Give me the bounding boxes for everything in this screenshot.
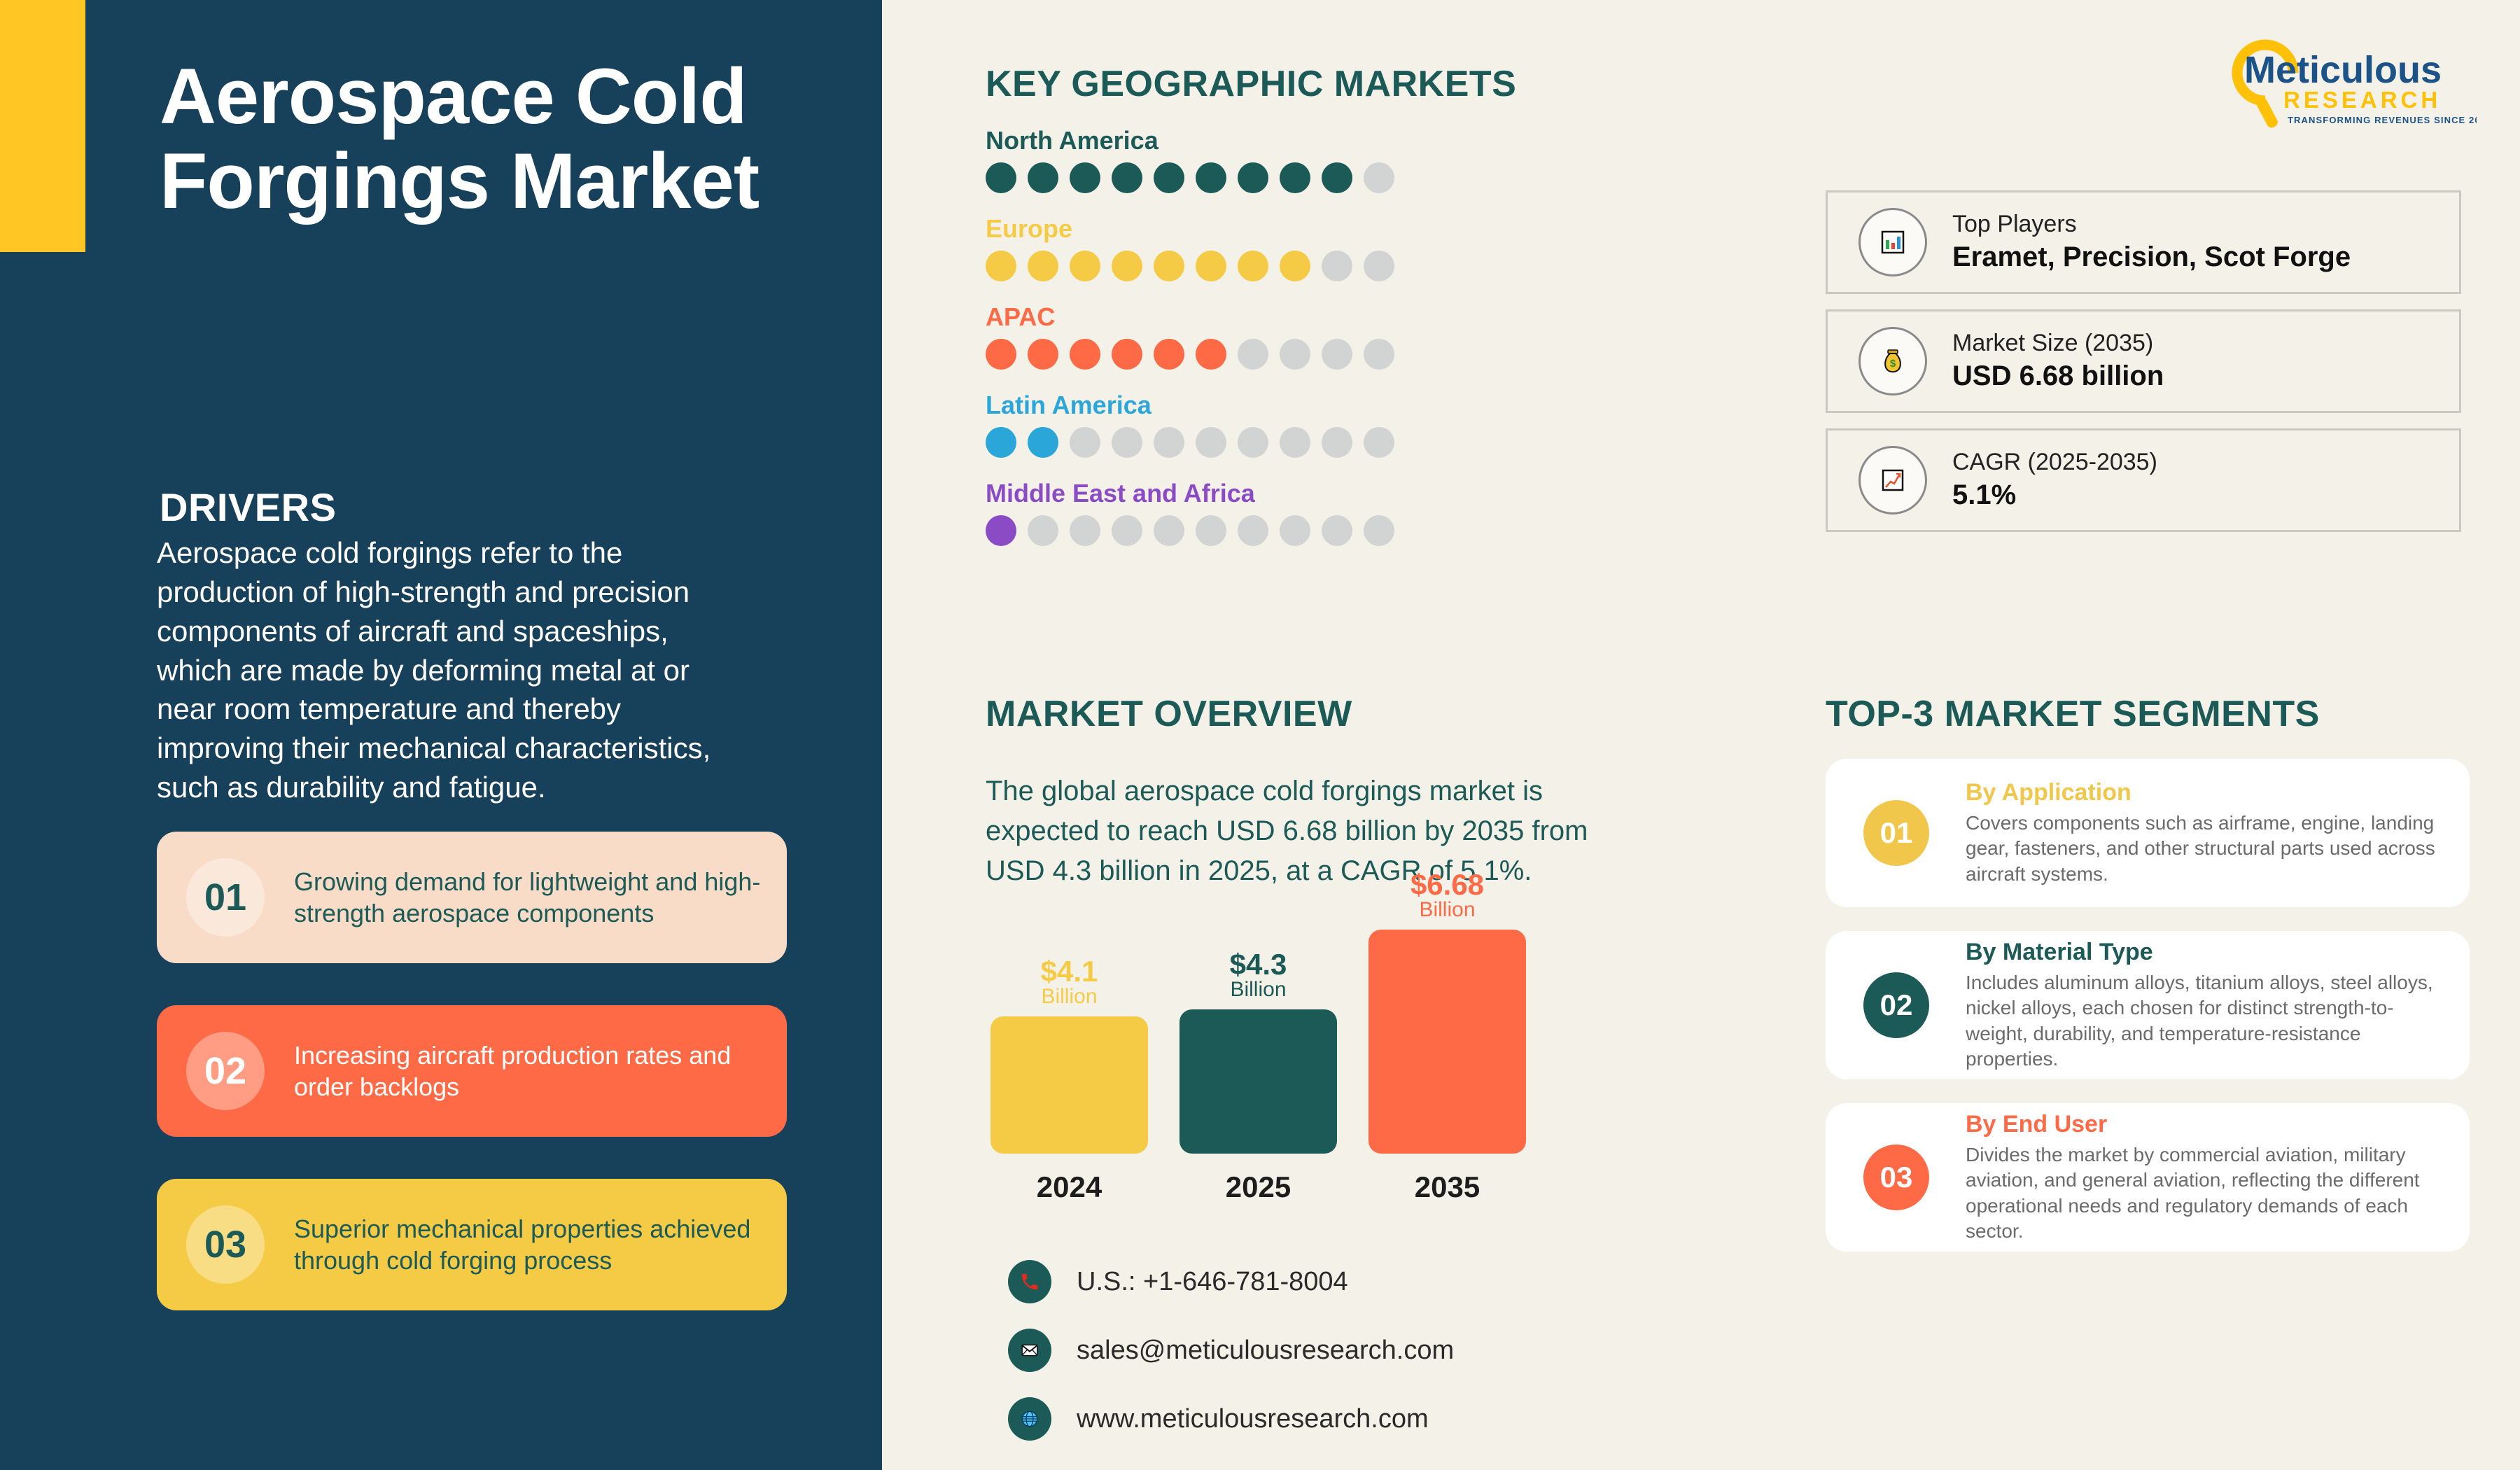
region-dot-empty: [1028, 515, 1058, 546]
drivers-heading: DRIVERS: [160, 484, 336, 530]
region-dot-filled: [1154, 162, 1184, 193]
segment-title: By End User: [1966, 1111, 2442, 1138]
segment-description: Includes aluminum alloys, titanium alloy…: [1966, 970, 2442, 1072]
page-title: Aerospace Cold Forgings Market: [160, 55, 818, 224]
region-dot-empty: [1154, 515, 1184, 546]
bar-column: $6.68Billion: [1368, 870, 1526, 1154]
region-block: North America: [986, 126, 1616, 193]
svg-text:RESEARCH: RESEARCH: [2283, 87, 2441, 113]
region-dot-row: [986, 251, 1616, 281]
region-dot-empty: [1238, 339, 1268, 370]
region-dot-empty: [1154, 427, 1184, 458]
segment-title: By Material Type: [1966, 939, 2442, 966]
market-size-bar-chart: $4.1Billion2024$4.3Billion2025$6.68Billi…: [990, 910, 1522, 1204]
meticulous-research-logo: Meticulous RESEARCH TRANSFORMING REVENUE…: [2211, 36, 2477, 134]
region-dot-row: [986, 162, 1616, 193]
region-dot-empty: [1238, 427, 1268, 458]
stat-label: Top Players: [1952, 210, 2351, 239]
trend-chart-icon: [1858, 446, 1927, 514]
region-dot-empty: [1364, 515, 1394, 546]
driver-number: 03: [204, 1223, 246, 1266]
phone-icon: [1008, 1260, 1051, 1303]
svg-text:TRANSFORMING REVENUES SINCE: TRANSFORMING REVENUES SINCE 2010: [2288, 115, 2477, 125]
region-block: Europe: [986, 214, 1616, 281]
bar-chart-icon: [1858, 208, 1927, 276]
segment-card-01: 01 By Application Covers components such…: [1826, 759, 2470, 907]
contact-list: U.S.: +1-646-781-8004 sales@meticulousre…: [1008, 1260, 1454, 1466]
region-name: Middle East and Africa: [986, 479, 1616, 508]
bar-rect: [1179, 1009, 1337, 1154]
stat-card-cagr: CAGR (2025-2035) 5.1%: [1826, 428, 2461, 532]
stat-card-market-size: $ Market Size (2035) USD 6.68 billion: [1826, 309, 2461, 413]
geographic-section-title: KEY GEOGRAPHIC MARKETS: [986, 63, 1616, 105]
driver-text: Superior mechanical properties achieved …: [294, 1213, 770, 1277]
svg-text:Meticulous: Meticulous: [2244, 49, 2442, 91]
region-dot-empty: [1364, 427, 1394, 458]
driver-number-ring: 01: [186, 858, 265, 937]
yellow-accent-bar: [0, 0, 85, 252]
region-dot-row: [986, 427, 1616, 458]
stat-card-top-players: Top Players Eramet, Precision, Scot Forg…: [1826, 190, 2461, 294]
bar-value-label: $6.68Billion: [1410, 870, 1484, 921]
stat-value: 5.1%: [1952, 477, 2157, 512]
region-dot-filled: [1322, 162, 1352, 193]
stat-value: USD 6.68 billion: [1952, 358, 2164, 393]
segments-section-title: TOP-3 MARKET SEGMENTS: [1826, 693, 2470, 735]
driver-card-02: 02 Increasing aircraft production rates …: [157, 1005, 787, 1137]
driver-text: Growing demand for lightweight and high-…: [294, 866, 770, 930]
left-panel: Aerospace Cold Forgings Market DRIVERS A…: [0, 0, 882, 1470]
region-dot-filled: [986, 515, 1016, 546]
contact-website-row[interactable]: www.meticulousresearch.com: [1008, 1397, 1454, 1441]
overview-description: The global aerospace cold forgings marke…: [986, 771, 1630, 890]
region-dot-filled: [1238, 162, 1268, 193]
region-dot-filled: [986, 339, 1016, 370]
region-name: APAC: [986, 302, 1616, 332]
region-dot-filled: [1238, 251, 1268, 281]
region-dot-filled: [1154, 251, 1184, 281]
contact-website-text: www.meticulousresearch.com: [1077, 1404, 1429, 1434]
region-dot-filled: [1196, 339, 1226, 370]
bar-unit: Billion: [1041, 986, 1098, 1008]
bar-value-label: $4.1Billion: [1041, 957, 1098, 1008]
region-dot-empty: [1070, 515, 1100, 546]
bar-category-label: 2025: [1179, 1170, 1337, 1204]
region-dot-filled: [1280, 162, 1310, 193]
stat-cards-list: Top Players Eramet, Precision, Scot Forg…: [1826, 190, 2461, 547]
drivers-description: Aerospace cold forgings refer to the pro…: [157, 533, 724, 807]
segment-number-badge: 03: [1863, 1144, 1929, 1210]
segment-description: Divides the market by commercial aviatio…: [1966, 1142, 2442, 1245]
region-dot-empty: [1322, 515, 1352, 546]
contact-email-row[interactable]: sales@meticulousresearch.com: [1008, 1329, 1454, 1372]
globe-icon: [1008, 1397, 1051, 1441]
region-dot-filled: [1070, 162, 1100, 193]
region-block: APAC: [986, 302, 1616, 370]
region-dot-empty: [1280, 427, 1310, 458]
region-dot-empty: [1322, 339, 1352, 370]
segment-title: By Application: [1966, 779, 2442, 806]
driver-card-01: 01 Growing demand for lightweight and hi…: [157, 832, 787, 963]
bar-category-label: 2024: [990, 1170, 1148, 1204]
driver-text: Increasing aircraft production rates and…: [294, 1039, 770, 1103]
bar-value: $4.1: [1041, 957, 1098, 987]
region-dot-row: [986, 515, 1616, 546]
region-dot-empty: [1364, 339, 1394, 370]
overview-section-title: MARKET OVERVIEW: [986, 693, 1630, 735]
driver-number: 02: [204, 1049, 246, 1093]
region-dot-empty: [1280, 515, 1310, 546]
driver-number: 01: [204, 876, 246, 919]
bar-category-label: 2035: [1368, 1170, 1526, 1204]
region-block: Middle East and Africa: [986, 479, 1616, 546]
bar-column: $4.3Billion: [1179, 950, 1337, 1154]
market-overview-section: MARKET OVERVIEW The global aerospace col…: [986, 693, 1630, 890]
bar-value-label: $4.3Billion: [1230, 950, 1287, 1001]
region-block: Latin America: [986, 391, 1616, 458]
bar-value: $6.68: [1410, 870, 1484, 900]
segment-number-badge: 01: [1863, 800, 1929, 866]
region-dot-empty: [1364, 162, 1394, 193]
region-dot-empty: [1112, 427, 1142, 458]
stat-label: CAGR (2025-2035): [1952, 448, 2157, 477]
region-dot-filled: [1028, 251, 1058, 281]
region-dot-filled: [986, 251, 1016, 281]
region-dot-filled: [1028, 162, 1058, 193]
region-dot-row: [986, 339, 1616, 370]
region-dot-filled: [1154, 339, 1184, 370]
region-dot-filled: [1280, 251, 1310, 281]
region-dot-filled: [1028, 427, 1058, 458]
region-dot-filled: [1070, 339, 1100, 370]
bar-unit: Billion: [1410, 899, 1484, 921]
region-dot-filled: [1112, 251, 1142, 281]
segment-number-badge: 02: [1863, 972, 1929, 1038]
contact-email-text: sales@meticulousresearch.com: [1077, 1336, 1454, 1366]
region-name: Europe: [986, 214, 1616, 244]
region-dot-filled: [1112, 162, 1142, 193]
svg-text:$: $: [1890, 358, 1896, 370]
segment-description: Covers components such as airframe, engi…: [1966, 811, 2442, 887]
region-dot-empty: [1322, 251, 1352, 281]
region-dot-empty: [1112, 515, 1142, 546]
driver-card-03: 03 Superior mechanical properties achiev…: [157, 1179, 787, 1310]
region-dot-filled: [986, 427, 1016, 458]
region-dot-empty: [1196, 515, 1226, 546]
contact-phone-text: U.S.: +1-646-781-8004: [1077, 1267, 1348, 1297]
contact-phone-row[interactable]: U.S.: +1-646-781-8004: [1008, 1260, 1454, 1303]
region-dot-filled: [1196, 162, 1226, 193]
driver-number-ring: 03: [186, 1205, 265, 1284]
region-dot-empty: [1322, 427, 1352, 458]
bar-unit: Billion: [1230, 979, 1287, 1001]
bar-column: $4.1Billion: [990, 957, 1148, 1154]
region-name: Latin America: [986, 391, 1616, 420]
region-dot-filled: [986, 162, 1016, 193]
bar-rect: [990, 1016, 1148, 1154]
top-market-segments-section: TOP-3 MARKET SEGMENTS 01 By Application …: [1826, 693, 2470, 1252]
region-dot-empty: [1196, 427, 1226, 458]
mail-icon: [1008, 1329, 1051, 1372]
region-dot-filled: [1070, 251, 1100, 281]
region-dot-empty: [1364, 251, 1394, 281]
region-dot-empty: [1070, 427, 1100, 458]
region-dot-filled: [1112, 339, 1142, 370]
segment-card-03: 03 By End User Divides the market by com…: [1826, 1103, 2470, 1252]
region-dot-empty: [1280, 339, 1310, 370]
money-bag-icon: $: [1858, 327, 1927, 395]
region-name: North America: [986, 126, 1616, 155]
key-geographic-markets-section: KEY GEOGRAPHIC MARKETS North AmericaEuro…: [986, 63, 1616, 546]
stat-value: Eramet, Precision, Scot Forge: [1952, 239, 2351, 274]
region-dot-filled: [1196, 251, 1226, 281]
bar-value: $4.3: [1230, 950, 1287, 980]
bar-rect: [1368, 930, 1526, 1154]
geographic-regions-list: North AmericaEuropeAPACLatin AmericaMidd…: [986, 126, 1616, 546]
stat-label: Market Size (2035): [1952, 329, 2164, 358]
region-dot-empty: [1238, 515, 1268, 546]
driver-number-ring: 02: [186, 1032, 265, 1110]
segment-card-02: 02 By Material Type Includes aluminum al…: [1826, 931, 2470, 1079]
region-dot-filled: [1028, 339, 1058, 370]
